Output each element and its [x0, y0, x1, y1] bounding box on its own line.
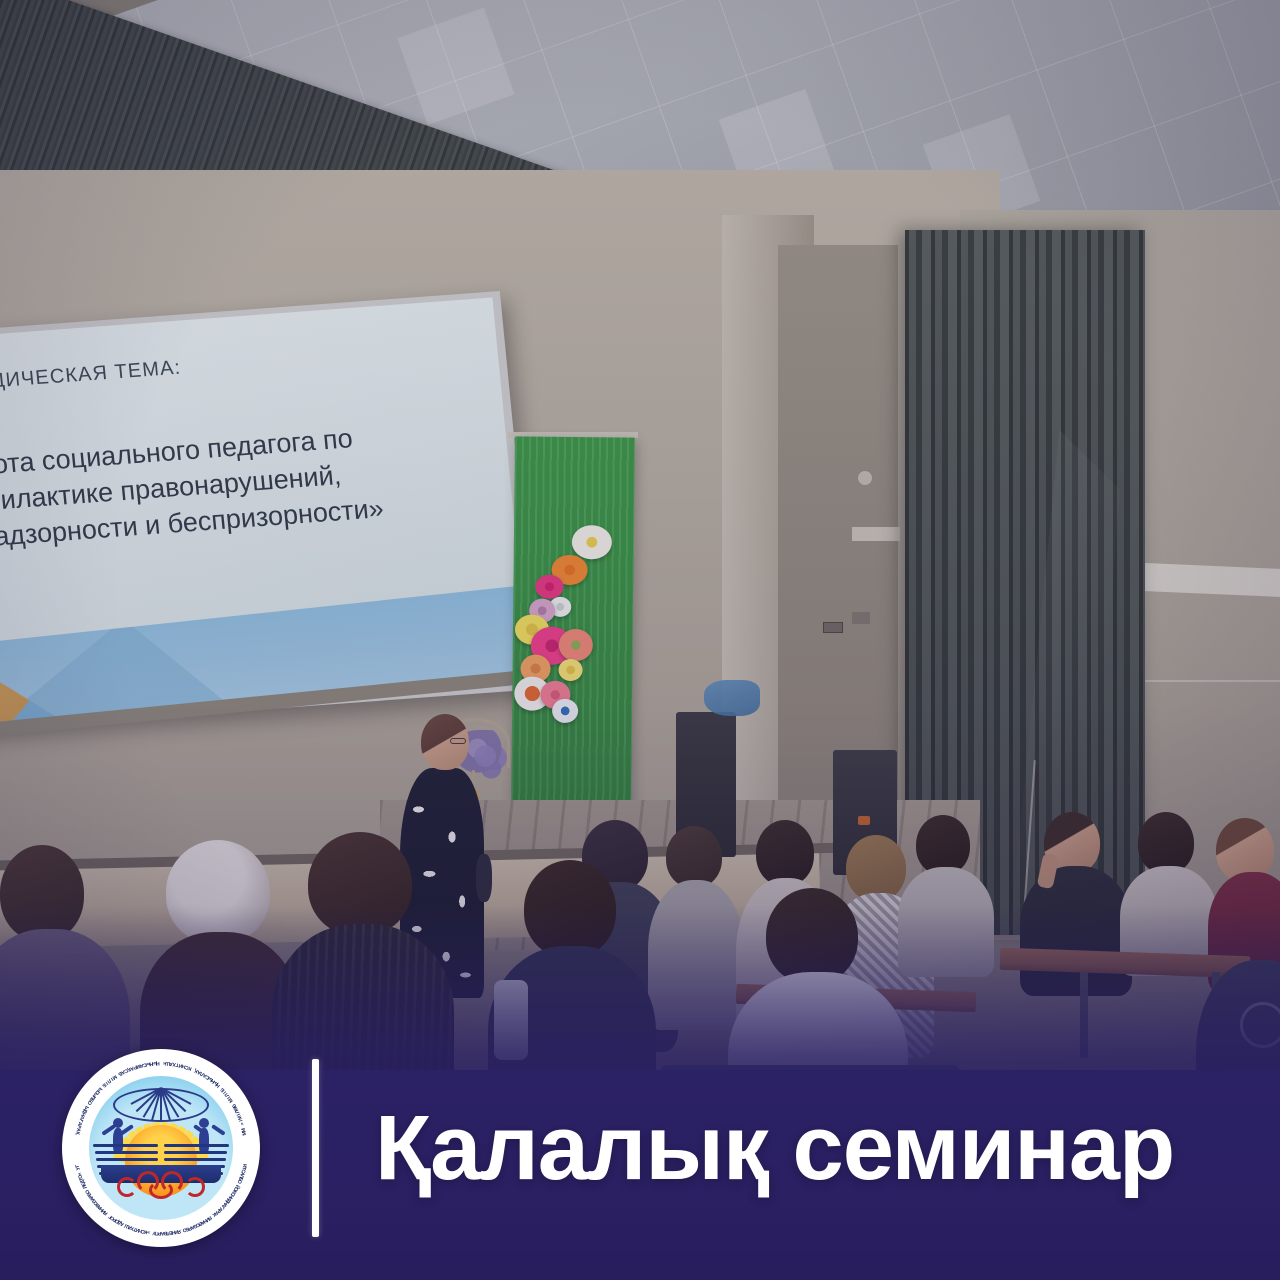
alcove-shelf: [852, 527, 900, 541]
wall-switch-icon: [852, 612, 870, 624]
organization-logo: ҚАРАҒАНДЫ ОБЛЫСЫ БІЛІМ БАСҚАРМАСЫНЫҢ «ША…: [62, 1049, 260, 1247]
kazakh-ornament-icon: [115, 1171, 207, 1201]
green-fabric-banner: [511, 436, 635, 817]
wall-clock-icon: [857, 470, 873, 486]
flower-white-blue-center: [552, 699, 578, 723]
banner-title: Қалалық семинар: [375, 1102, 1174, 1194]
logo-inner-circle: [89, 1076, 233, 1220]
logo-ring-char: [160, 1060, 162, 1066]
figure-right-arm-icon: [211, 1124, 225, 1135]
presenter-glasses-icon: [450, 738, 466, 744]
banner-content-row: ҚАРАҒАНДЫ ОБЛЫСЫ БІЛІМ БАСҚАРМАСЫНЫҢ «ША…: [0, 1044, 1280, 1252]
head: [1138, 812, 1194, 874]
poster-canvas: МЕТОДИЧЕСКАЯ ТЕМА: «Работа социального п…: [0, 0, 1280, 1280]
slide-kicker-text: МЕТОДИЧЕСКАЯ ТЕМА:: [0, 334, 486, 398]
flower-yellow-small: [558, 659, 582, 681]
head: [756, 820, 814, 886]
flower-white-yellow-center: [572, 525, 612, 559]
head: [666, 826, 722, 888]
figure-right-head-icon: [199, 1118, 209, 1128]
flower-salmon: [559, 629, 593, 661]
wall-socket-icon: [823, 622, 843, 633]
blue-bag: [704, 680, 760, 716]
presentation-slide: МЕТОДИЧЕСКАЯ ТЕМА: «Работа социального п…: [0, 298, 530, 727]
logo-ring-char: Ң: [156, 1060, 160, 1066]
logo-ring-char: М: [241, 1131, 248, 1136]
projection-screen: МЕТОДИЧЕСКАЯ ТЕМА: «Работа социального п…: [0, 291, 539, 733]
slide-body-text: «Работа социального педагога по профилак…: [0, 410, 500, 559]
speaker-led-icon: [858, 816, 870, 825]
head: [916, 815, 970, 875]
banner-divider: [312, 1059, 319, 1237]
flower-magenta: [535, 575, 563, 599]
logo-ring-char: И: [241, 1163, 248, 1168]
